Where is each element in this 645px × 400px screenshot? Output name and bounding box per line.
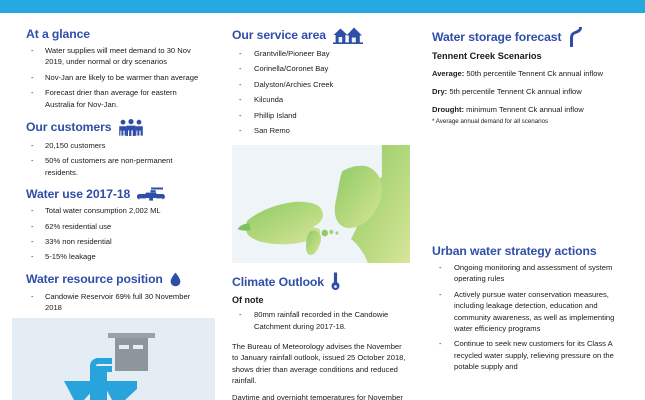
- two-houses-icon: [333, 27, 363, 44]
- climate-outlook-list: 80mm rainfall recorded in the Candowie C…: [232, 309, 410, 332]
- section-heading-climate-outlook: Climate Outlook: [232, 272, 410, 291]
- list-item: Continue to seek new customers for its C…: [432, 338, 633, 372]
- top-accent-bar: [0, 0, 645, 13]
- water-drop-icon: [170, 272, 181, 287]
- water-resource-position-title: Water resource position: [26, 272, 163, 286]
- middle-column: Our service area Grantville/Pioneer B: [215, 13, 420, 400]
- section-heading-service-area: Our service area: [232, 27, 410, 44]
- at-a-glance-title: At a glance: [26, 27, 90, 41]
- water-treatment-illustration: [12, 318, 215, 400]
- scenario-average-text: 50th percentile Tennent Ck annual inflow: [464, 69, 603, 78]
- scenario-dry-label: Dry:: [432, 87, 447, 96]
- our-customers-list: 20,150 customers 50% of customers are no…: [26, 140, 201, 178]
- list-item: Water supplies will meet demand to 30 No…: [26, 45, 201, 68]
- list-item: Candowie Reservoir 69% full 30 November …: [26, 291, 201, 314]
- three-column-layout: At a glance Water supplies will meet dem…: [0, 13, 645, 400]
- list-item: 33% non residential: [26, 236, 201, 247]
- list-item: Dalyston/Archies Creek: [232, 79, 410, 90]
- strategy-actions-title: Urban water strategy actions: [432, 244, 597, 258]
- scenario-dry: Dry: 5th percentile Tennent Ck annual in…: [432, 86, 633, 97]
- list-item: Corinella/Coronet Bay: [232, 63, 410, 74]
- thermometer-icon: [331, 272, 340, 291]
- list-item: Ongoing monitoring and assessment of sys…: [432, 262, 633, 285]
- climate-outlook-subheading: Of note: [232, 295, 410, 305]
- section-heading-water-resource-position: Water resource position: [26, 272, 201, 287]
- curve-graph-icon: [568, 27, 582, 47]
- storage-forecast-subheading: Tennent Creek Scenarios: [432, 51, 633, 61]
- water-use-list: Total water consumption 2,002 ML 62% res…: [26, 205, 201, 263]
- service-area-title: Our service area: [232, 28, 326, 42]
- list-item: Kilcunda: [232, 94, 410, 105]
- infographic-page: At a glance Water supplies will meet dem…: [0, 0, 645, 400]
- scenario-drought-label: Drought:: [432, 105, 464, 114]
- right-column: Water storage forecast Tennent Creek Sce…: [420, 13, 645, 400]
- scenario-drought-text: minimum Tennent Ck annual inflow: [464, 105, 584, 114]
- strategy-actions-list: Ongoing monitoring and assessment of sys…: [432, 262, 633, 373]
- left-column: At a glance Water supplies will meet dem…: [0, 13, 215, 400]
- section-heading-strategy-actions: Urban water strategy actions: [432, 244, 633, 258]
- scenario-average: Average: 50th percentile Tennent Ck annu…: [432, 68, 633, 79]
- people-group-icon: [118, 119, 144, 136]
- list-item: 80mm rainfall recorded in the Candowie C…: [232, 309, 410, 332]
- list-item: Phillip Island: [232, 110, 410, 121]
- water-use-title: Water use 2017-18: [26, 187, 130, 201]
- service-area-list: Grantville/Pioneer Bay Corinella/Coronet…: [232, 48, 410, 136]
- scenario-average-label: Average:: [432, 69, 464, 78]
- storage-forecast-footnote: * Average annual demand for all scenario…: [432, 118, 633, 126]
- tap-faucet-icon: [137, 187, 165, 201]
- list-item: 20,150 customers: [26, 140, 201, 151]
- list-item: Total water consumption 2,002 ML: [26, 205, 201, 216]
- list-item: Actively pursue water conservation measu…: [432, 289, 633, 335]
- list-item: Nov-Jan are likely to be warmer than ave…: [26, 72, 201, 83]
- list-item: 50% of customers are non-permanent resid…: [26, 155, 201, 178]
- water-resource-position-list: Candowie Reservoir 69% full 30 November …: [26, 291, 201, 314]
- at-a-glance-list: Water supplies will meet demand to 30 No…: [26, 45, 201, 110]
- list-item: 5-15% leakage: [26, 251, 201, 262]
- climate-outlook-title: Climate Outlook: [232, 275, 324, 289]
- storage-forecast-title: Water storage forecast: [432, 30, 561, 44]
- climate-outlook-paragraph-1: The Bureau of Meteorology advises the No…: [232, 341, 410, 386]
- climate-outlook-paragraph-2: Daytime and overnight temperatures for N…: [232, 392, 410, 400]
- section-heading-our-customers: Our customers: [26, 119, 201, 136]
- scenario-drought: Drought: minimum Tennent Ck annual inflo…: [432, 104, 633, 115]
- service-area-map: [232, 145, 410, 263]
- list-item: Grantville/Pioneer Bay: [232, 48, 410, 59]
- section-heading-storage-forecast: Water storage forecast: [432, 27, 633, 47]
- our-customers-title: Our customers: [26, 120, 111, 134]
- section-heading-water-use: Water use 2017-18: [26, 187, 201, 201]
- list-item: San Remo: [232, 125, 410, 136]
- scenario-dry-text: 5th percentile Tennent Ck annual inflow: [447, 87, 582, 96]
- list-item: Forecast drier than average for eastern …: [26, 87, 201, 110]
- section-heading-at-a-glance: At a glance: [26, 27, 201, 41]
- list-item: 62% residential use: [26, 221, 201, 232]
